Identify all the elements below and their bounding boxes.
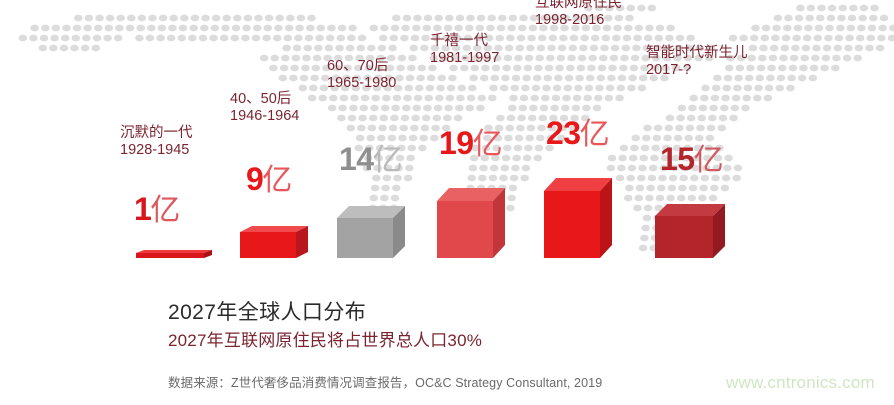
generation-name: 沉默的一代 [120, 125, 193, 143]
generation-name: 互联网原住民 [535, 0, 622, 12]
bar-ai-era-newborns [655, 204, 725, 258]
generation-years: 1998-2016 [535, 12, 622, 30]
generation-name: 40、50后 [230, 91, 299, 109]
value-number: 14 [339, 141, 374, 177]
value-number: 19 [439, 125, 474, 161]
chart-title: 2027年全球人口分布 [168, 300, 482, 327]
generation-label-millennials: 千禧一代 1981-1997 [430, 33, 499, 68]
generation-value-silent-generation: 1亿 [134, 193, 180, 226]
generation-years: 2017-? [646, 62, 748, 80]
caption-block: 2027年全球人口分布 2027年互联网原住民将占世界总人口30% [168, 300, 482, 352]
generation-years: 1928-1945 [120, 142, 193, 160]
watermark-text: www.cntronics.com [726, 373, 875, 393]
value-unit: 亿 [580, 118, 610, 151]
value-number: 1 [134, 191, 151, 227]
bar-silent-generation [136, 250, 212, 258]
generation-value-post-60-70: 14亿 [339, 143, 403, 176]
value-unit: 亿 [473, 128, 503, 161]
generation-value-ai-era-newborns: 15亿 [660, 143, 724, 176]
generation-label-post-60-70: 60、70后 1965-1980 [327, 58, 396, 93]
generation-value-millennials: 19亿 [439, 127, 503, 160]
generation-years: 1981-1997 [430, 50, 499, 68]
generation-years: 1965-1980 [327, 75, 396, 93]
generation-label-silent-generation: 沉默的一代 1928-1945 [120, 125, 193, 160]
value-number: 23 [546, 115, 581, 151]
infographic-root: 沉默的一代 1928-1945 1亿 40、50后 1946-1964 9 [0, 0, 894, 405]
generation-label-internet-natives: 互联网原住民 1998-2016 [535, 0, 622, 30]
chart-subtitle: 2027年互联网原住民将占世界总人口30% [168, 330, 482, 352]
generation-name: 60、70后 [327, 58, 396, 76]
value-unit: 亿 [694, 144, 724, 177]
generation-name: 千禧一代 [430, 33, 499, 51]
value-number: 15 [660, 141, 695, 177]
value-unit: 亿 [373, 144, 403, 177]
bar-millennials [437, 188, 505, 258]
generation-group-silent-generation: 沉默的一代 1928-1945 1亿 [118, 88, 238, 258]
source-note: 数据来源：Z世代奢侈品消费情况调查报告，OC&C Strategy Consul… [168, 372, 602, 391]
generation-value-internet-natives: 23亿 [546, 117, 610, 150]
generation-group-ai-era-newborns: 智能时代新生儿 2017-? 15亿 [638, 0, 798, 258]
value-number: 9 [246, 161, 263, 197]
generation-name: 智能时代新生儿 [646, 45, 748, 63]
bar-internet-natives [544, 178, 612, 258]
generation-label-post-40-50: 40、50后 1946-1964 [230, 91, 299, 126]
value-unit: 亿 [262, 164, 292, 197]
generation-label-ai-era-newborns: 智能时代新生儿 2017-? [646, 45, 748, 80]
bar-post-60-70 [337, 206, 405, 258]
generation-value-post-40-50: 9亿 [246, 163, 292, 196]
bar-post-40-50 [240, 226, 308, 258]
generation-years: 1946-1964 [230, 108, 299, 126]
value-unit: 亿 [150, 194, 180, 227]
